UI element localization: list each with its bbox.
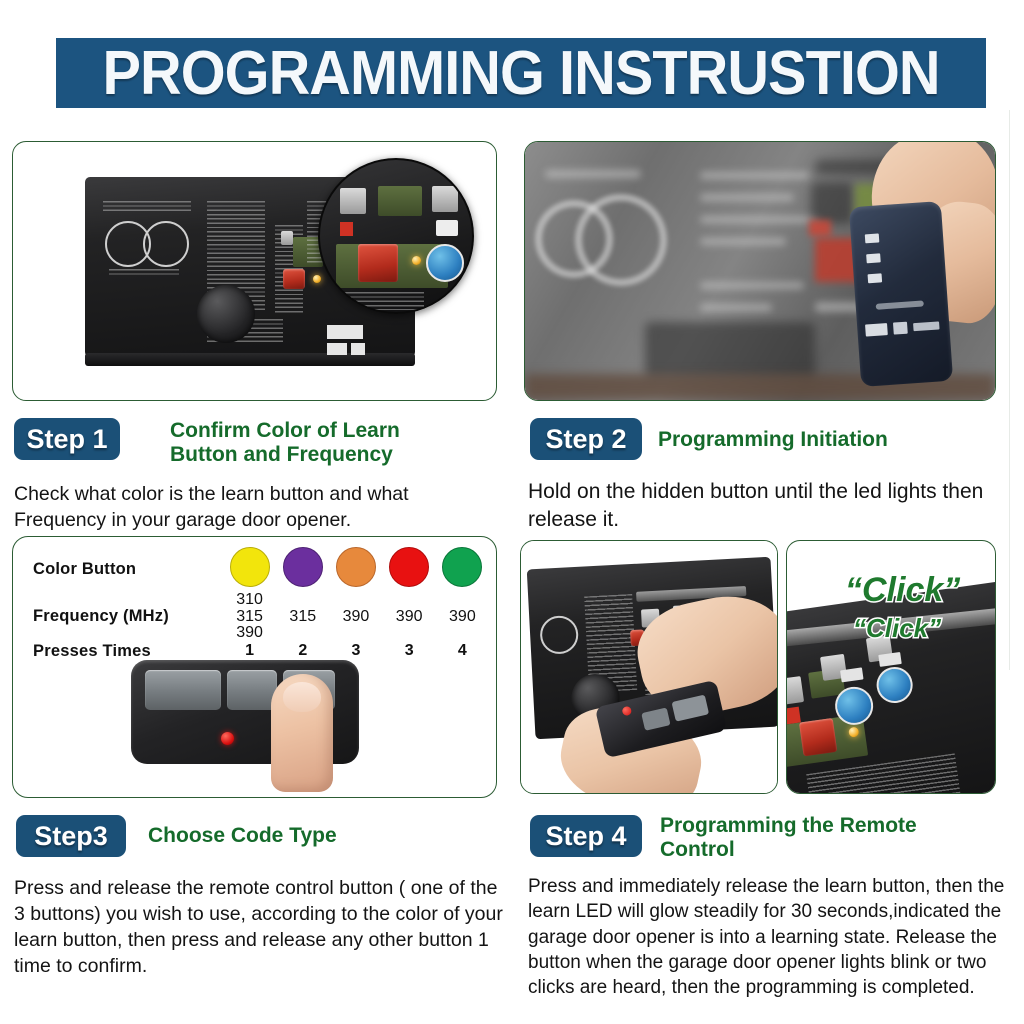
row-header-color-button: Color Button: [21, 547, 223, 592]
step-2-badge: Step 2: [530, 418, 642, 460]
table-row-frequency: Frequency (MHz) 310 315 390 315 390 390 …: [21, 592, 489, 642]
fingernail: [283, 682, 321, 712]
inset-pcb-top: [378, 186, 422, 216]
remote-control-image: [131, 660, 371, 792]
presses-cell-green: 4: [436, 642, 489, 661]
click-callout-2: “Click”: [853, 613, 941, 644]
step4-photo-panel-left: [520, 540, 778, 794]
remote-button-2: [227, 670, 277, 710]
frequency-cell-green: 390: [436, 592, 489, 642]
step-1-badge-label: Step 1: [26, 424, 107, 455]
frequency-table: Color Button Frequency (MHz) 310 315 390…: [21, 547, 489, 661]
step2-photo-panel: [524, 141, 996, 401]
blue-dial-2: [874, 665, 915, 706]
terminal-screw-a: [281, 231, 293, 245]
step-2-badge-label: Step 2: [545, 424, 626, 455]
inset-learn-button-red: [358, 244, 398, 282]
step-4-badge-label: Step 4: [545, 821, 626, 852]
label-nec-cl2: [840, 667, 863, 682]
inset-white-chip: [436, 220, 458, 236]
color-dot-green: [442, 547, 482, 587]
lamp-socket-knob: [197, 285, 255, 343]
step-4-title: Programming the Remote Control: [660, 814, 950, 861]
opener-bottom-lip: [85, 353, 415, 366]
inset-red-marker: [340, 222, 353, 236]
frequency-cell-orange: 390: [329, 592, 382, 642]
page-right-edge: [1009, 110, 1024, 670]
inset-fcc-text: [334, 292, 424, 310]
step-1-title: Confirm Color of Learn Button and Freque…: [170, 419, 470, 466]
learn-button-red-closeup: [799, 718, 837, 756]
warning-icon-entrapment: [143, 221, 189, 267]
table-row-color-button: Color Button: [21, 547, 489, 592]
bg-warning-circle-2: [575, 194, 667, 286]
bg-text-line-7: [700, 304, 772, 311]
step-1-badge: Step 1: [14, 418, 120, 460]
step-2-title: Programming Initiation: [658, 428, 988, 452]
page-title: PROGRAMMING INSTRUSTION: [102, 38, 939, 109]
frequency-value: 310: [223, 592, 276, 609]
remote-chip-3: [868, 273, 883, 283]
step-2-body: Hold on the hidden button until the led …: [528, 478, 998, 534]
frequency-cell-red: 390: [383, 592, 436, 642]
bg-text-line-6: [700, 282, 804, 289]
bg-terminal-left: [811, 182, 853, 224]
remote-in-hand-led: [621, 706, 632, 717]
remote-chip-1: [865, 233, 880, 243]
color-cell-orange: [329, 547, 382, 592]
table-row-presses: Presses Times 1 2 3 3 4: [21, 642, 489, 661]
step-4-badge: Step 4: [530, 815, 642, 857]
step-4-body: Press and immediately release the learn …: [528, 874, 1013, 1000]
step1-photo-panel: [12, 141, 497, 401]
blue-remote-control: [849, 201, 953, 387]
presses-cell-yellow: 1: [223, 642, 276, 661]
learn-button-red: [283, 269, 305, 289]
frequency-value: 315: [223, 609, 276, 626]
magnifier-inset: [318, 158, 474, 314]
bg-text-line-4: [700, 216, 820, 223]
bg-red-chip: [809, 220, 831, 236]
remote-in-hand-button-2: [671, 695, 709, 722]
step-1-body: Check what color is the learn button and…: [14, 482, 484, 534]
frequency-value: 390: [223, 625, 276, 642]
remote-seam: [876, 300, 924, 309]
presses-cell-purple: 2: [276, 642, 329, 661]
remote-chip-2: [866, 253, 881, 263]
remote-logo-plate: [865, 323, 888, 337]
serial-sticker-3: [351, 343, 365, 355]
step4-photo-panel-right: “Click” “Click”: [786, 540, 996, 794]
color-dot-orange: [336, 547, 376, 587]
learn-button-spec-panel: Color Button Frequency (MHz) 310 315 390…: [12, 536, 497, 798]
serial-sticker-2: [327, 343, 347, 355]
bg-text-line-3: [700, 194, 794, 201]
terminal-a: [786, 676, 804, 705]
color-cell-green: [436, 547, 489, 592]
learn-led-amber: [313, 275, 321, 283]
remote-button-1: [145, 670, 221, 710]
color-cell-red: [383, 547, 436, 592]
serial-sticker-1: [327, 325, 363, 339]
color-dot-yellow: [230, 547, 270, 587]
remote-led-red: [221, 732, 234, 745]
color-cell-purple: [276, 547, 329, 592]
bg-bracket: [645, 322, 815, 378]
bg-text-line-1: [545, 170, 641, 178]
title-banner: PROGRAMMING INSTRUSTION: [56, 38, 986, 108]
inset-terminal-2: [432, 186, 458, 212]
click-callout-1: “Click”: [845, 571, 960, 610]
color-dot-purple: [283, 547, 323, 587]
remote-barcode: [913, 321, 939, 331]
label-24v: [878, 652, 901, 667]
presses-cell-red: 3: [383, 642, 436, 661]
bg-text-line-5: [700, 238, 786, 245]
frequency-cell-purple: 315: [276, 592, 329, 642]
step-3-title: Choose Code Type: [148, 824, 468, 848]
inset-blue-dial: [426, 244, 464, 282]
remote-in-hand-button-1: [641, 707, 670, 730]
color-cell-yellow: [223, 547, 276, 592]
step-3-body: Press and release the remote control but…: [14, 876, 504, 980]
warning-subtext: [109, 269, 179, 277]
step-3-badge-label: Step3: [34, 821, 108, 852]
row-header-frequency: Frequency (MHz): [21, 592, 223, 642]
presses-cell-orange: 3: [329, 642, 382, 661]
step-3-badge: Step3: [16, 815, 126, 857]
danger-heading-text: [103, 201, 191, 211]
inset-terminal-1: [340, 188, 366, 214]
color-dot-red: [389, 547, 429, 587]
infographic-page: PROGRAMMING INSTRUSTION: [0, 0, 1024, 1024]
row-header-presses: Presses Times: [21, 642, 223, 661]
remote-label-small: [893, 322, 908, 335]
bg-text-line-2: [700, 172, 810, 179]
frequency-cell-yellow: 310 315 390: [223, 592, 276, 642]
inset-learn-led: [412, 256, 421, 265]
warning-icon: [539, 615, 579, 655]
